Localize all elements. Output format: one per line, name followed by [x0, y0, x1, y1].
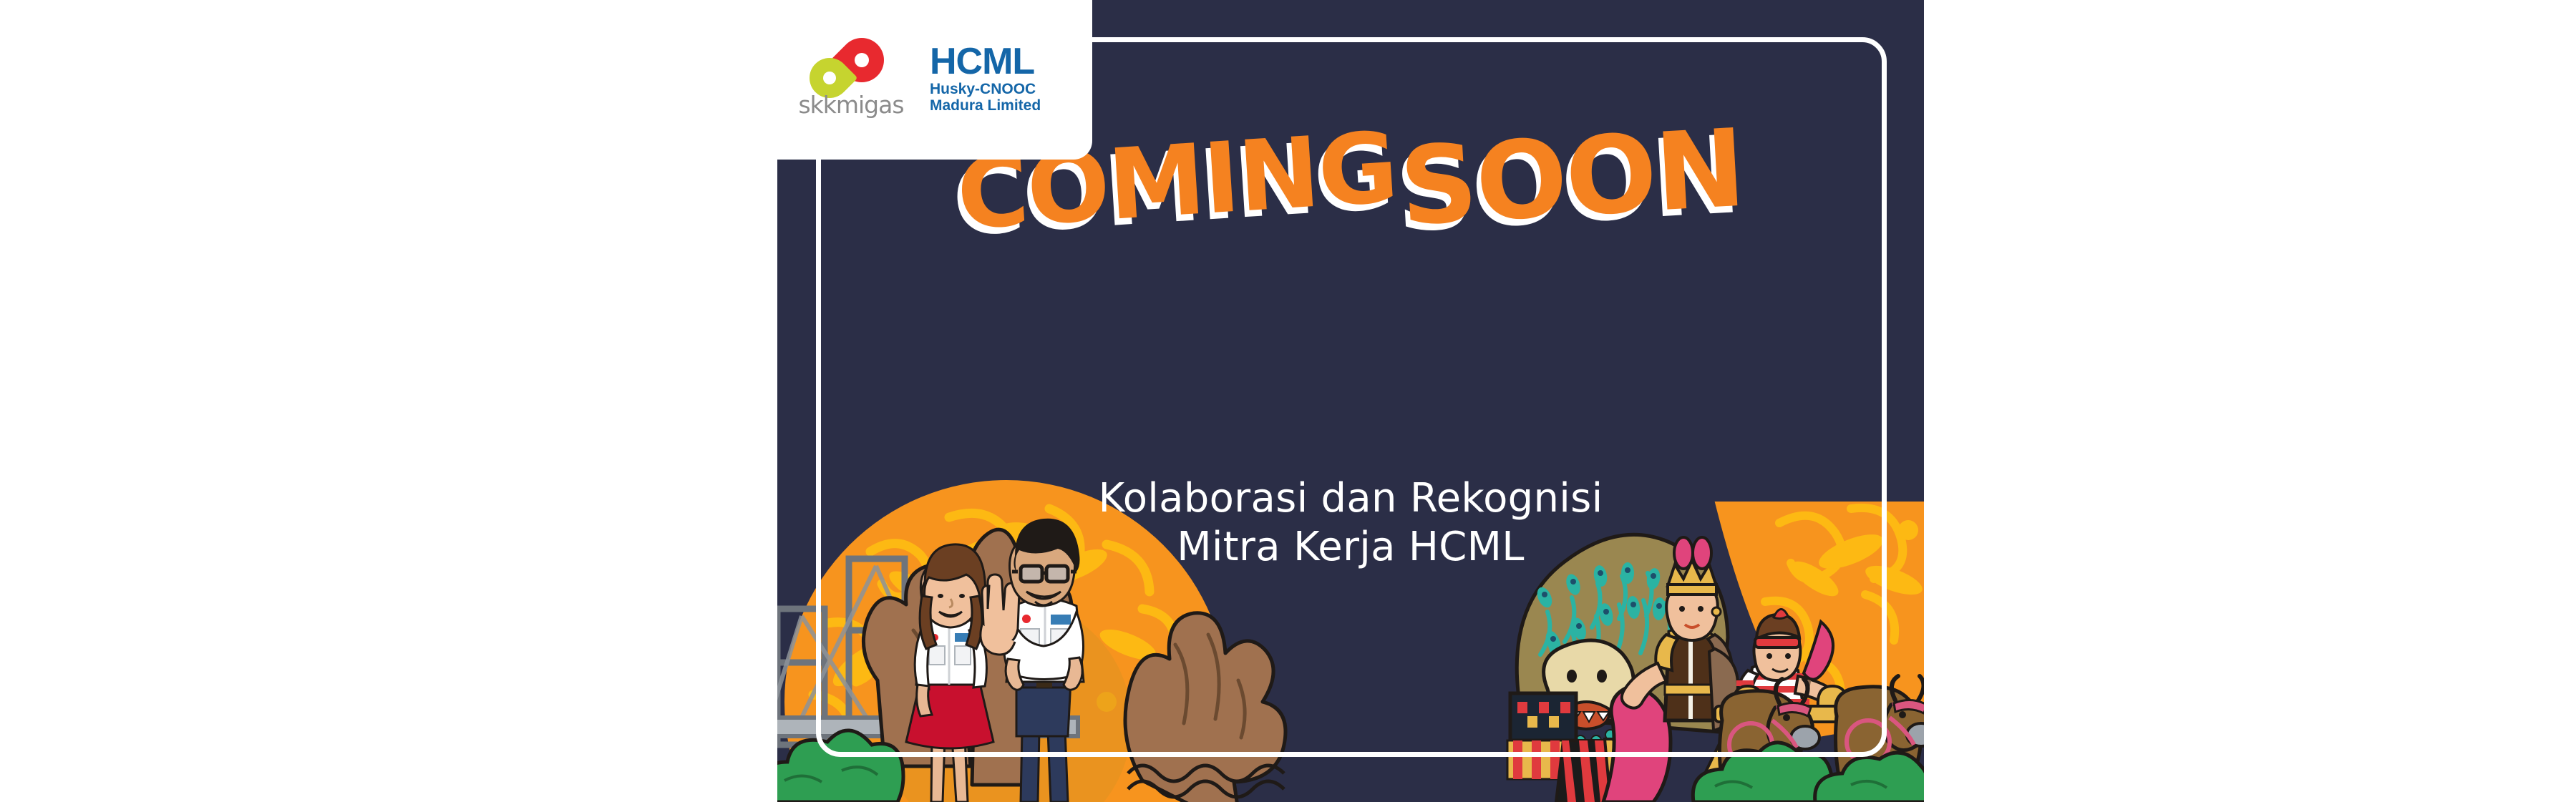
skkmigas-green-pin-hole — [823, 72, 836, 84]
hcml-tagline: Husky-CNOOC Madura Limited — [930, 82, 1073, 114]
skkmigas-logo: skkmigas — [797, 38, 905, 122]
hcml-wordmark: HCML — [930, 45, 1073, 79]
left-illustration — [777, 466, 1314, 802]
hcml-tagline-line2: Madura Limited — [930, 98, 1073, 114]
right-illustration — [1479, 502, 1924, 802]
headline-line-soon: SOON — [1398, 117, 1747, 240]
partner-logos-card: skkmigas HCML Husky-CNOOC Madura Limited — [777, 0, 1092, 160]
screenshot-canvas: skkmigas HCML Husky-CNOOC Madura Limited… — [0, 0, 2576, 802]
hcml-tagline-line1: Husky-CNOOC — [930, 82, 1073, 98]
skkmigas-red-pin-hole — [855, 53, 869, 67]
coming-soon-poster: skkmigas HCML Husky-CNOOC Madura Limited… — [777, 0, 1924, 802]
skkmigas-wordmark: skkmigas — [797, 91, 905, 119]
skkmigas-pin-mark — [797, 38, 905, 95]
hcml-logo: HCML Husky-CNOOC Madura Limited — [930, 45, 1073, 114]
